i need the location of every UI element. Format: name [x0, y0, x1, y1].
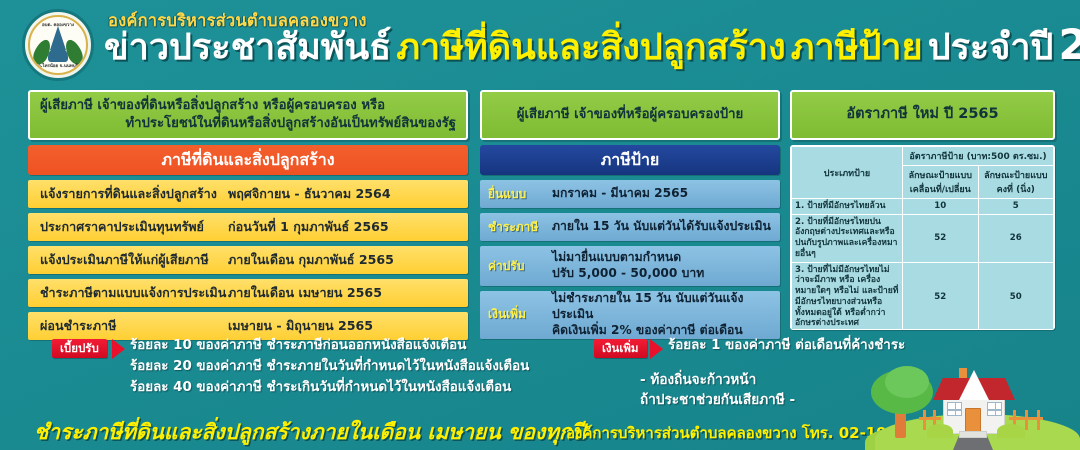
- rate-row-description: 1. ป้ายที่มีอักษรไทยล้วน: [792, 199, 903, 215]
- table-row: 2. ป้ายที่มีอักษรไทยปน อังกฤษต่างประเทศแ…: [792, 214, 1054, 262]
- headline-part-news: ข่าวประชาสัมพันธ์: [104, 30, 391, 66]
- fence-rail-icon: [1009, 417, 1043, 420]
- rate-row-moving-value: 10: [902, 199, 978, 215]
- infographic-poster: อบต. คลองขวาง อ.ไทรน้อย จ.นนทบุรี องค์กา…: [0, 0, 1080, 450]
- table-row: ชำระภาษี ภายใน 15 วัน นับแต่วันได้รับแจ้…: [480, 213, 780, 241]
- slogan-block: - ท้องถิ่นจะก้าวหน้า ถ้าประชาช่วยกันเสีย…: [640, 370, 795, 411]
- surcharge-text-block: ร้อยละ 1 ของค่าภาษี ต่อเดือนที่ค้างชำระ: [668, 336, 905, 357]
- rate-row-fixed-value: 50: [978, 262, 1053, 330]
- banner-new-rate-text: อัตราภาษี ใหม่ ปี 2565: [836, 105, 1008, 125]
- sign-tax-row-value-line1: ไม่มายื่นแบบตามกำหนด: [552, 250, 681, 264]
- banner-new-rate: อัตราภาษี ใหม่ ปี 2565: [790, 90, 1055, 140]
- sign-tax-row-value: มกราคม - มีนาคม 2565: [552, 186, 780, 202]
- table-row: เงินเพิ่ม ไม่ชำระภายใน 15 วัน นับแต่วันแ…: [480, 291, 780, 339]
- tree-foliage-highlight-icon: [885, 366, 929, 398]
- fence-post-icon: [1013, 410, 1016, 430]
- table-row: แจ้งรายการที่ดินและสิ่งปลูกสร้าง พฤศจิกา…: [28, 180, 468, 208]
- penalty-line-3: ร้อยละ 40 ของค่าภาษี ชำระเกินวันที่กำหนด…: [130, 378, 529, 399]
- fence-post-icon: [1025, 410, 1028, 430]
- land-tax-section: ภาษีที่ดินและสิ่งปลูกสร้าง แจ้งรายการที่…: [28, 145, 468, 340]
- surcharge-arrow-icon: [650, 339, 663, 359]
- rate-table-header-fixed: ลักษณะป้ายแบบคงที่ (นิ่ง): [978, 166, 1053, 199]
- table-row: ชำระภาษีตามแบบแจ้งการประเมิน ภายในเดือน …: [28, 279, 468, 307]
- table-row: ประกาศราคาประเมินทุนทรัพย์ ก่อนวันที่ 1 …: [28, 213, 468, 241]
- rate-row-description: 3. ป้ายที่ไม่มีอักษรไทยไม่ว่าจะมีภาพ หรื…: [792, 262, 903, 330]
- logo-emblem: อบต. คลองขวาง อ.ไทรน้อย จ.นนทบุรี: [28, 15, 88, 75]
- rate-table-header-moving: ลักษณะป้ายแบบเคลื่อนที่/เปลี่ยน: [902, 166, 978, 199]
- organization-logo: อบต. คลองขวาง อ.ไทรน้อย จ.นนทบุรี: [22, 9, 94, 81]
- logo-ring-top-text: อบต. คลองขวาง: [42, 21, 74, 28]
- banner-sign-taxpayer: ผู้เสียภาษี เจ้าของที่หรือผู้ครอบครองป้า…: [480, 90, 780, 140]
- land-tax-title: ภาษีที่ดินและสิ่งปลูกสร้าง: [28, 145, 468, 175]
- rate-row-description: 2. ป้ายที่มีอักษรไทยปน อังกฤษต่างประเทศแ…: [792, 214, 903, 262]
- house-door-icon: [965, 408, 981, 432]
- land-tax-row-label: ชำระภาษีตามแบบแจ้งการประเมิน: [28, 283, 228, 303]
- sign-tax-row-label: ชำระภาษี: [480, 218, 552, 237]
- sign-rate-table: ประเภทป้าย อัตราภาษีป้าย (บาท:500 ตร.ซม.…: [790, 145, 1055, 330]
- tree-foliage-icon: [871, 370, 933, 414]
- headline: ข่าวประชาสัมพันธ์ ภาษีที่ดินและสิ่งปลูกส…: [104, 24, 1080, 66]
- land-tax-row-label: แจ้งประเมินภาษีให้แก่ผู้เสียภาษี: [28, 250, 228, 270]
- house-window-icon: [987, 402, 1002, 416]
- land-tax-row-label: แจ้งรายการที่ดินและสิ่งปลูกสร้าง: [28, 184, 228, 204]
- table-row: 3. ป้ายที่ไม่มีอักษรไทยไม่ว่าจะมีภาพ หรื…: [792, 262, 1054, 330]
- house-body-icon: [943, 396, 1005, 434]
- penalty-line-2: ร้อยละ 20 ของค่าภาษี ชำระภายในวันที่กำหน…: [130, 357, 529, 378]
- fence-rail-icon: [919, 417, 941, 420]
- logo-ring-text: อบต. คลองขวาง อ.ไทรน้อย จ.นนทบุรี: [30, 17, 86, 73]
- headline-part-land-tax: ภาษีที่ดินและสิ่งปลูกสร้าง: [396, 30, 785, 66]
- bush-icon: [997, 424, 1025, 438]
- land-tax-row-value: พฤศจิกายน - ธันวาคม 2564: [228, 184, 468, 204]
- rate-row-moving-value: 52: [902, 214, 978, 262]
- sign-tax-section: ภาษีป้าย ยื่นแบบ มกราคม - มีนาคม 2565 ชำ…: [480, 145, 780, 339]
- surcharge-tag: เงินเพิ่ม: [594, 339, 647, 358]
- sign-tax-row-value-line2: ปรับ 5,000 - 50,000 บาท: [552, 266, 704, 280]
- sign-tax-row-label: ค่าปรับ: [480, 257, 552, 276]
- sign-tax-row-value: ภายใน 15 วัน นับแต่วันได้รับแจ้งประเมิน: [552, 219, 780, 235]
- land-tax-row-value: ก่อนวันที่ 1 กุมภาพันธ์ 2565: [228, 217, 468, 237]
- banner-land-taxpayer-line1: ผู้เสียภาษี เจ้าของที่ดินหรือสิ่งปลูกสร้…: [30, 97, 466, 115]
- house-gable-icon: [959, 370, 989, 400]
- banner-land-taxpayer-line2: ทำประโยชน์ในที่ดินหรือสิ่งปลูกสร้างอันเป…: [30, 115, 466, 133]
- banner-sign-taxpayer-text: ผู้เสียภาษี เจ้าของที่หรือผู้ครอบครองป้า…: [507, 106, 754, 124]
- surcharge-line-1: ร้อยละ 1 ของค่าภาษี ต่อเดือนที่ค้างชำระ: [668, 336, 905, 357]
- penalty-line-1: ร้อยละ 10 ของค่าภาษี ชำระภาษีก่อนออกหนัง…: [130, 336, 529, 357]
- slogan-line-2: ถ้าประชาช่วยกันเสียภาษี -: [640, 390, 795, 410]
- table-row: แจ้งประเมินภาษีให้แก่ผู้เสียภาษี ภายในเด…: [28, 246, 468, 274]
- sign-tax-row-value: ไม่ชำระภายใน 15 วัน นับแต่วันแจ้งประเมิน…: [552, 291, 780, 339]
- chimney-icon: [959, 368, 967, 380]
- path-icon: [953, 426, 993, 450]
- footer-main-message: ชำระภาษีที่ดินและสิ่งปลูกสร้างภายในเดือน…: [34, 416, 585, 449]
- penalty-arrow-icon: [112, 339, 125, 359]
- footer-contact: องค์การบริหารส่วนตำบลคลองขวาง โทร. 02-19…: [566, 421, 939, 445]
- house-roof-icon: [933, 378, 1015, 400]
- banner-land-taxpayer: ผู้เสียภาษี เจ้าของที่ดินหรือสิ่งปลูกสร้…: [28, 90, 468, 140]
- fence-post-icon: [1037, 410, 1040, 430]
- rate-table: ประเภทป้าย อัตราภาษีป้าย (บาท:500 ตร.ซม.…: [791, 146, 1054, 330]
- penalty-tag: เบี้ยปรับ: [52, 339, 107, 358]
- logo-ring-bottom-text: อ.ไทรน้อย จ.นนทบุรี: [38, 62, 78, 69]
- table-row: ค่าปรับ ไม่มายื่นแบบตามกำหนด ปรับ 5,000 …: [480, 246, 780, 286]
- sign-tax-row-value: ไม่มายื่นแบบตามกำหนด ปรับ 5,000 - 50,000…: [552, 250, 780, 282]
- table-row: ยื่นแบบ มกราคม - มีนาคม 2565: [480, 180, 780, 208]
- rate-row-moving-value: 52: [902, 262, 978, 330]
- land-tax-row-value: ภายในเดือน กุมภาพันธ์ 2565: [228, 250, 468, 270]
- house-step-icon: [959, 431, 987, 438]
- headline-part-sign-tax: ภาษีป้าย: [791, 30, 923, 66]
- rate-row-fixed-value: 26: [978, 214, 1053, 262]
- headline-part-year-value: 2565: [1059, 24, 1080, 66]
- land-tax-row-value: ภายในเดือน เมษายน 2565: [228, 283, 468, 303]
- sign-tax-row-label: เงินเพิ่ม: [480, 305, 552, 324]
- sign-tax-row-value-line2: คิดเงินเพิ่ม 2% ของค่าภาษี ต่อเดือน: [552, 323, 743, 337]
- land-tax-row-label: ผ่อนชำระภาษี: [28, 316, 228, 336]
- house-window-icon: [947, 402, 962, 416]
- land-tax-row-label: ประกาศราคาประเมินทุนทรัพย์: [28, 217, 228, 237]
- rate-row-fixed-value: 5: [978, 199, 1053, 215]
- rate-table-header-group: อัตราภาษีป้าย (บาท:500 ตร.ซม.): [902, 147, 1053, 166]
- rate-table-header-row-1: ประเภทป้าย อัตราภาษีป้าย (บาท:500 ตร.ซม.…: [792, 147, 1054, 166]
- headline-part-year-label: ประจำปี: [928, 30, 1054, 66]
- rate-table-header-type: ประเภทป้าย: [792, 147, 903, 199]
- sign-tax-row-label: ยื่นแบบ: [480, 185, 552, 204]
- table-row: 1. ป้ายที่มีอักษรไทยล้วน 10 5: [792, 199, 1054, 215]
- land-tax-row-value: เมษายน - มิถุนายน 2565: [228, 316, 468, 336]
- sign-tax-row-value-line1: ไม่ชำระภายใน 15 วัน นับแต่วันแจ้งประเมิน: [552, 291, 744, 321]
- slogan-line-1: - ท้องถิ่นจะก้าวหน้า: [640, 370, 795, 390]
- sign-tax-title: ภาษีป้าย: [480, 145, 780, 175]
- penalty-text-block: ร้อยละ 10 ของค่าภาษี ชำระภาษีก่อนออกหนัง…: [130, 336, 529, 398]
- poster-header: อบต. คลองขวาง อ.ไทรน้อย จ.นนทบุรี องค์กา…: [0, 0, 1080, 86]
